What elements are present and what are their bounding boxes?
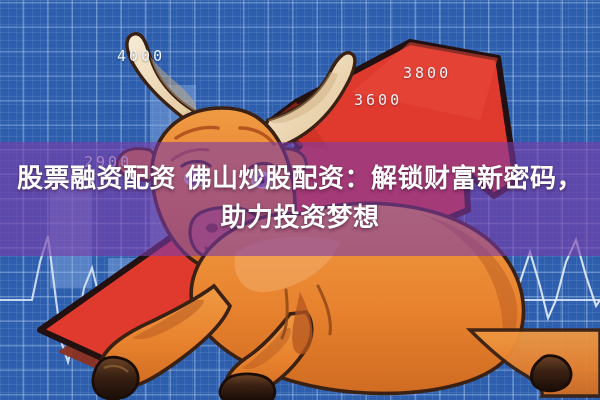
promo-banner: 4000290038003600 股票融资配资 佛山炒股配资：解锁财富新密码， … [0, 0, 600, 400]
chart-label-3800: 3800 [403, 64, 451, 82]
headline-line-1: 股票融资配资 佛山炒股配资：解锁财富新密码， [14, 160, 586, 199]
chart-label-3600: 3600 [354, 91, 402, 109]
headline-line-2: 助力投资梦想 [14, 199, 586, 238]
chart-label-4000: 4000 [117, 47, 165, 65]
headline-text: 股票融资配资 佛山炒股配资：解锁财富新密码， 助力投资梦想 [0, 160, 600, 238]
